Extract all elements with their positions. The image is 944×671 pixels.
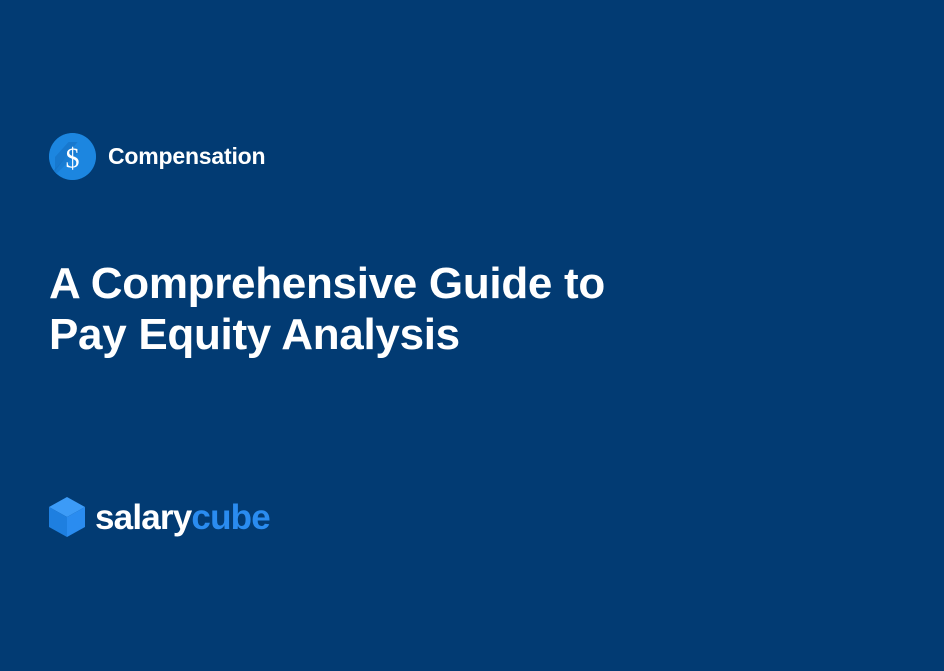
dollar-badge-icon: $ <box>49 133 96 180</box>
brand-logo: salarycube <box>48 496 270 538</box>
brand-wordmark: salarycube <box>95 500 270 535</box>
brand-wordmark-accent: cube <box>191 498 270 537</box>
page-title-line-2: Pay Equity Analysis <box>49 309 809 360</box>
brand-wordmark-primary: salary <box>95 498 191 537</box>
page-title: A Comprehensive Guide to Pay Equity Anal… <box>49 258 809 360</box>
category-label: Compensation <box>108 145 265 168</box>
svg-text:$: $ <box>66 144 80 175</box>
title-slide: $ Compensation A Comprehensive Guide to … <box>0 0 944 671</box>
category-badge: $ Compensation <box>49 133 265 180</box>
page-title-line-1: A Comprehensive Guide to <box>49 258 809 309</box>
cube-icon <box>48 496 86 538</box>
